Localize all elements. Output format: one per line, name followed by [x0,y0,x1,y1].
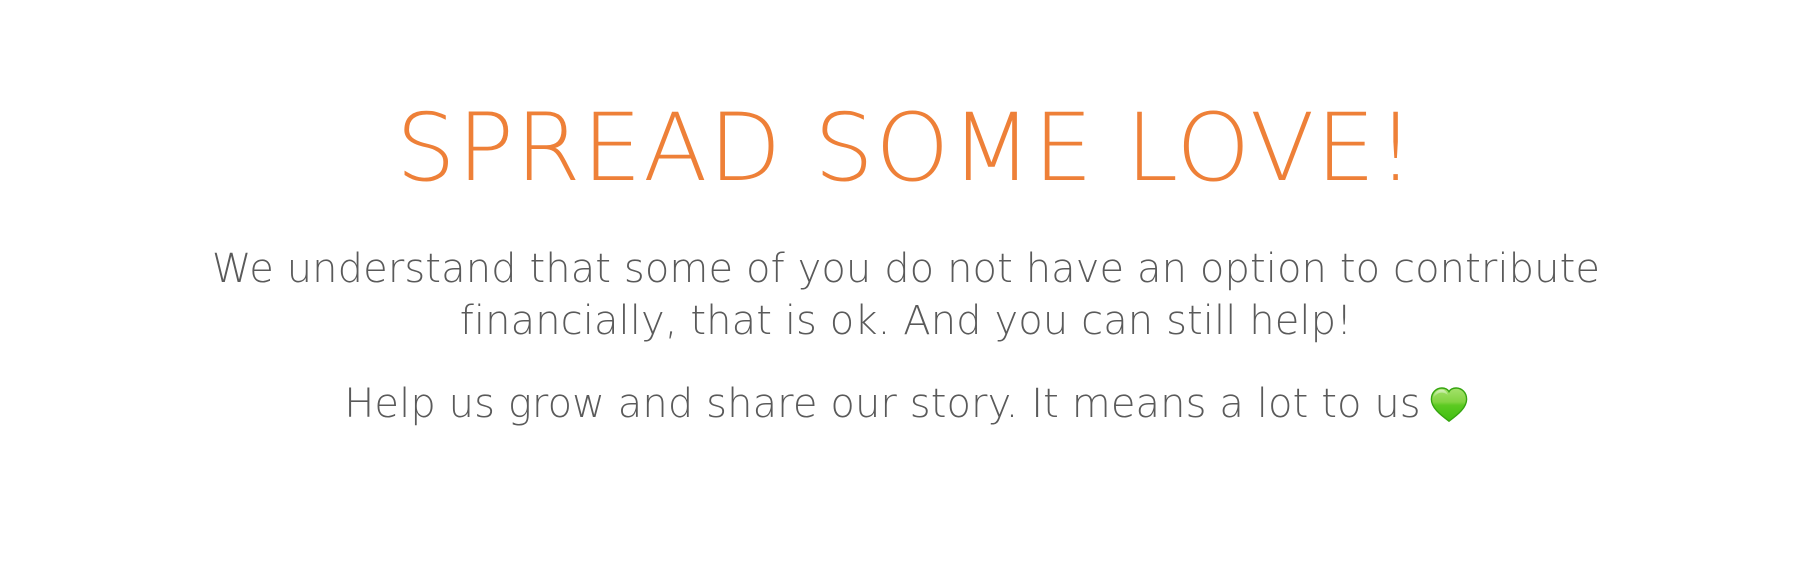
green-heart-icon [1430,386,1468,422]
page-title: SPREAD SOME LOVE! [0,99,1812,199]
paragraph-contribute-note: We understand that some of you do not ha… [0,243,1812,347]
paragraph-share-story: Help us grow and share our story. It mea… [0,378,1812,430]
page-root: SPREAD SOME LOVE! We understand that som… [0,0,1812,582]
body-copy: We understand that some of you do not ha… [0,243,1812,430]
paragraph-line: We understand that some of you do not ha… [110,243,1702,295]
paragraph-line: Help us grow and share our story. It mea… [344,381,1421,427]
paragraph-line: financially, that is ok. And you can sti… [110,295,1702,347]
